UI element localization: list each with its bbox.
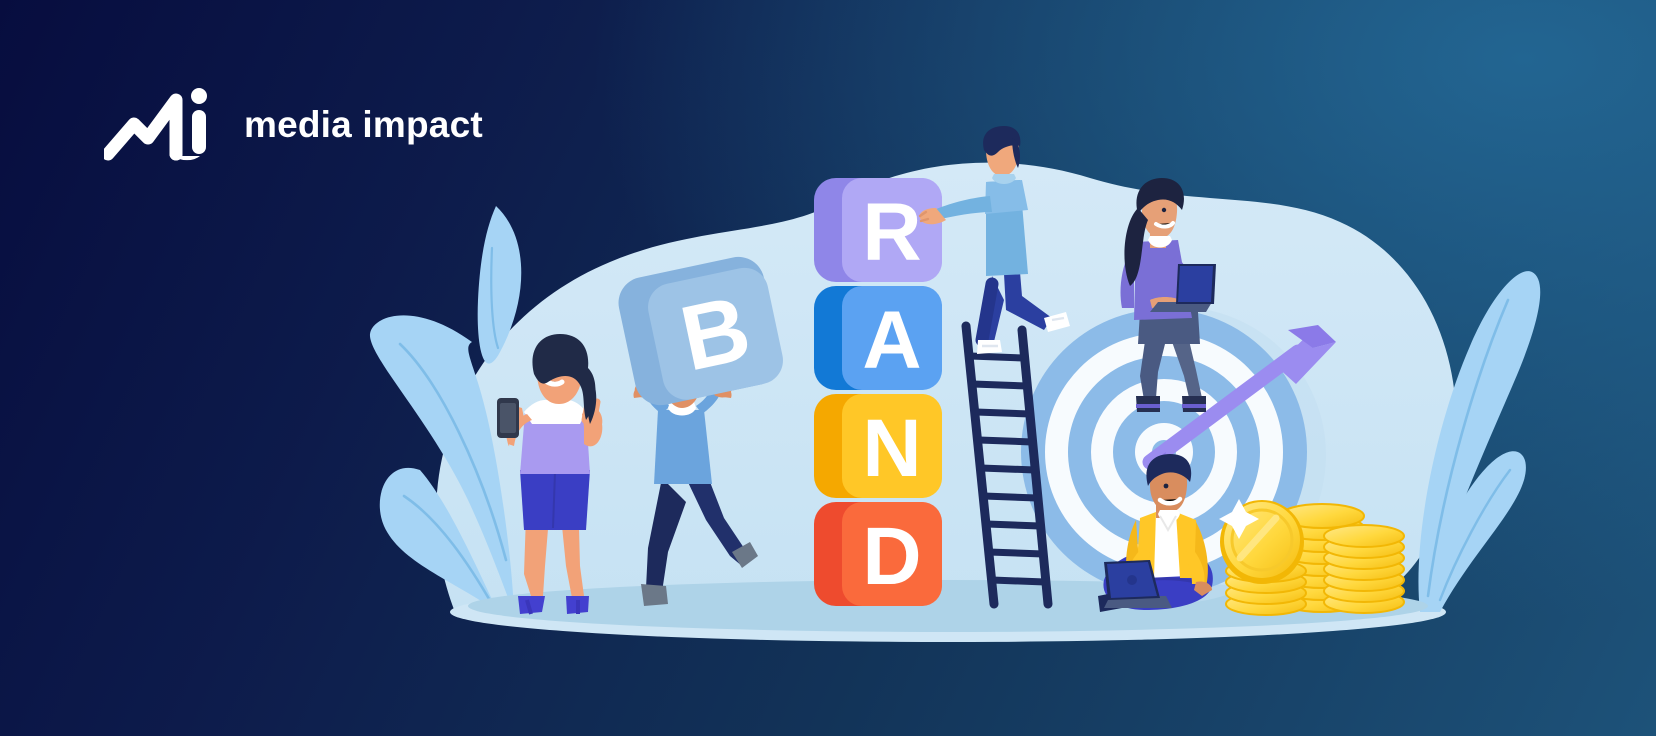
block-letter-A[interactable]: A [814,286,942,390]
block-letter-R[interactable]: R [814,178,942,282]
brand-logo[interactable]: media impact [104,86,483,162]
svg-text:N: N [862,403,921,494]
brand-logo-text: media impact [244,106,483,143]
svg-text:D: D [862,511,921,602]
svg-text:A: A [862,295,921,386]
block-letter-N[interactable]: N [814,394,942,498]
block-letter-D[interactable]: D [814,502,942,606]
mi-monogram-chart-arrow [104,86,222,162]
hero-illustration-canvas: B R A N [0,0,1656,736]
svg-text:R: R [862,187,921,278]
